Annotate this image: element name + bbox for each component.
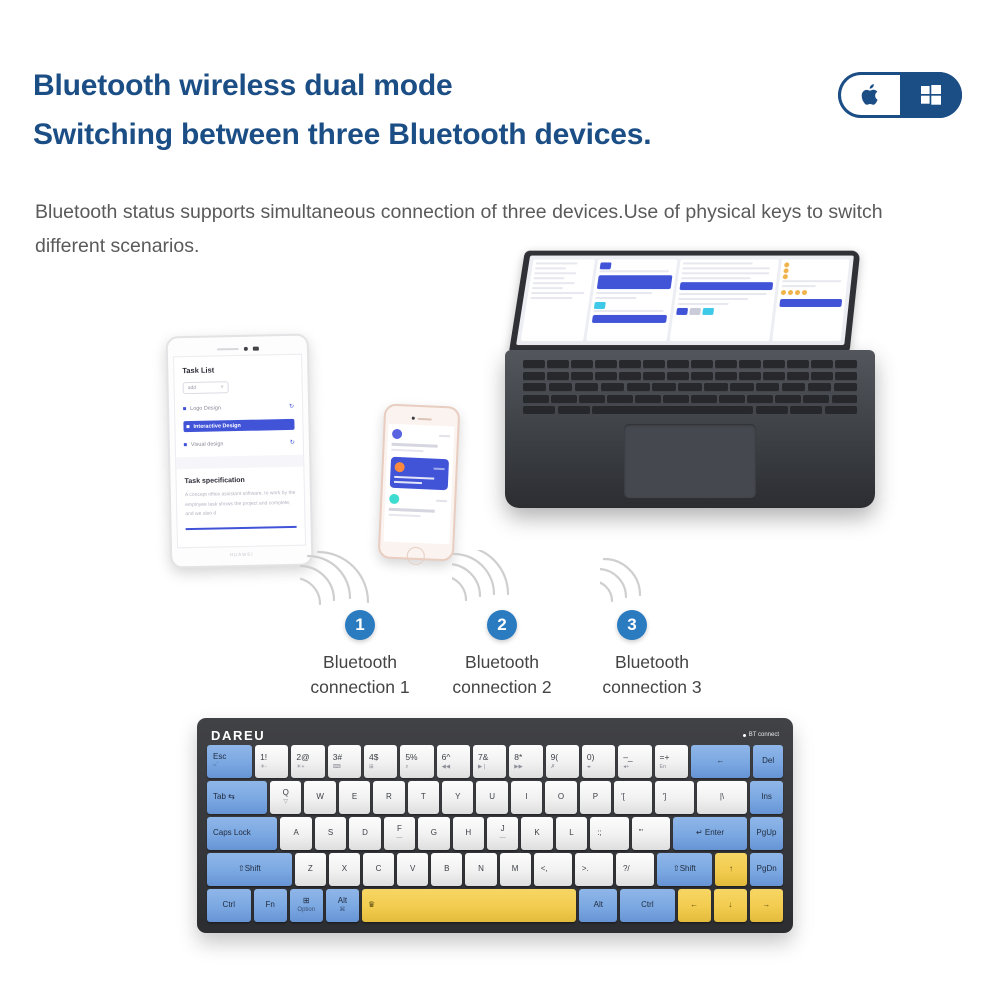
key-main-label: ?/: [623, 865, 630, 873]
key-sub-label: ✗: [551, 764, 556, 770]
bt-status-indicator: BT connect: [743, 732, 779, 738]
key-main-label: T: [421, 793, 426, 801]
key-v[interactable]: V: [397, 853, 428, 886]
chat-list-item-selected[interactable]: [390, 456, 449, 490]
key-n[interactable]: N: [465, 853, 496, 886]
key-alt[interactable]: Alt: [579, 889, 617, 922]
key-main-label: ←: [717, 757, 725, 765]
keyboard-row: Esc~`1!☀-2@☀+3#⌨4$⊞5%⌕6^◀◀7&▶❘8*▶▶9(✗0)◂…: [207, 745, 783, 778]
key-s[interactable]: S: [315, 817, 346, 850]
laptop-keyboard: [523, 360, 857, 415]
apple-badge-half: [838, 72, 900, 118]
dashboard-cards: [586, 259, 678, 341]
key-main-label: >.: [582, 865, 589, 873]
dashboard-ui: [521, 259, 850, 341]
apple-icon: [861, 83, 881, 107]
key-main-label: B: [444, 865, 449, 873]
key-main-label: Ctrl: [641, 901, 653, 909]
key-9[interactable]: 9(✗: [546, 745, 579, 778]
task-list-title: Task List: [182, 364, 293, 375]
key-[interactable]: →: [750, 889, 783, 922]
key-main-label: |\: [720, 793, 724, 801]
key-k[interactable]: K: [521, 817, 552, 850]
key-enter[interactable]: ↵ Enter: [673, 817, 747, 850]
chevron-down-icon: ˅: [221, 384, 224, 390]
key-shift[interactable]: ⇧Shift: [207, 853, 292, 886]
home-button[interactable]: [406, 547, 425, 566]
progress-bar: [186, 525, 297, 529]
key-[interactable]: ←: [691, 745, 750, 778]
key-main-label: ⊞: [303, 897, 310, 905]
bullet-icon: [183, 407, 186, 410]
connection-badge-2: 2: [487, 610, 517, 640]
key-[interactable]: :;: [590, 817, 628, 850]
chat-list-item[interactable]: [391, 429, 450, 453]
key-main-label: 1!: [260, 753, 267, 762]
windows-icon: [921, 85, 941, 105]
key-main-label: 7&: [478, 753, 488, 762]
phone-screen: [383, 424, 454, 545]
key-main-label: 3#: [333, 753, 342, 762]
product-feature-page: Bluetooth wireless dual mode Switching b…: [0, 0, 1000, 1000]
dashboard-sidebar: [521, 259, 595, 341]
key-shift[interactable]: ⇧Shift: [657, 853, 712, 886]
key-main-label: Fn: [265, 901, 274, 909]
task-label: Interactive Design: [193, 422, 283, 430]
key-y[interactable]: Y: [442, 781, 473, 814]
key-main-label: Caps Lock: [213, 829, 251, 837]
key-t[interactable]: T: [408, 781, 439, 814]
dareu-keyboard: DAREU BT connect Esc~`1!☀-2@☀+3#⌨4$⊞5%⌕6…: [197, 718, 793, 933]
section-divider: [176, 455, 303, 470]
key-main-label: Z: [308, 865, 313, 873]
phone-device: [378, 403, 461, 561]
key-[interactable]: ←: [678, 889, 711, 922]
task-item[interactable]: Visual design ↻: [184, 437, 295, 450]
add-task-dropdown[interactable]: add ˅: [183, 381, 229, 394]
keyboard-key-rows: Esc~`1!☀-2@☀+3#⌨4$⊞5%⌕6^◀◀7&▶❘8*▶▶9(✗0)◂…: [205, 745, 785, 922]
key-main-label: 2@: [296, 753, 309, 762]
keyboard-brand-logo: DAREU: [211, 728, 265, 743]
key-main-label: ⇧Shift: [238, 865, 261, 873]
page-title: Bluetooth wireless dual mode Switching b…: [33, 62, 651, 159]
dashboard-main: [670, 259, 779, 341]
keyboard-row: CtrlFn⊞OptionAlt⌘♛AltCtrl←↓→: [207, 889, 783, 922]
key-[interactable]: ↑: [715, 853, 748, 886]
key-main-label: R: [386, 793, 392, 801]
key-sub-label: ⌕: [405, 764, 408, 770]
key-main-label: –_: [623, 753, 632, 762]
task-label: Visual design: [191, 440, 286, 448]
key-sub-label: ▶▶: [514, 764, 522, 770]
connection-badge-1: 1: [345, 610, 375, 640]
key-main-label: U: [489, 793, 495, 801]
key-m[interactable]: M: [500, 853, 531, 886]
key-z[interactable]: Z: [295, 853, 326, 886]
key-main-label: Del: [762, 757, 774, 765]
key-fn[interactable]: Fn: [254, 889, 287, 922]
key-p[interactable]: P: [580, 781, 611, 814]
bullet-icon: [184, 443, 187, 446]
key-main-label: 6^: [442, 753, 451, 762]
tablet-device: Task List add ˅ Logo Design ↻ Interactiv…: [166, 334, 314, 569]
key-4[interactable]: 4$⊞: [364, 745, 397, 778]
key-main-label: V: [410, 865, 415, 873]
key-[interactable]: –_◂+: [618, 745, 651, 778]
keyboard-row: ⇧ShiftZXCVBNM<,>.?/⇧Shift↑PgDn: [207, 853, 783, 886]
key-main-label: L: [569, 829, 573, 837]
key-[interactable]: =+En: [655, 745, 688, 778]
key-sub-label: ⊞: [369, 764, 374, 770]
key-1[interactable]: 1!☀-: [255, 745, 288, 778]
key-main-label: H: [465, 829, 471, 837]
key-del[interactable]: Del: [753, 745, 783, 778]
key-w[interactable]: W: [304, 781, 335, 814]
key-g[interactable]: G: [418, 817, 449, 850]
key-esc[interactable]: Esc~`: [207, 745, 252, 778]
key-main-label: Ins: [761, 793, 772, 801]
key-[interactable]: >.: [575, 853, 613, 886]
task-spec-title: Task specification: [185, 476, 296, 485]
key-7[interactable]: 7&▶❘: [473, 745, 506, 778]
key-main-label: 0): [587, 753, 595, 762]
keyboard-row: Tab ⇆Q▽WERTYUIOP'[']|\Ins: [207, 781, 783, 814]
key-r[interactable]: R: [373, 781, 404, 814]
key-3[interactable]: 3#⌨: [328, 745, 361, 778]
key-h[interactable]: H: [453, 817, 484, 850]
key-main-label: PgDn: [757, 865, 777, 873]
key-main-label: A: [293, 829, 298, 837]
task-item[interactable]: Interactive Design ○: [183, 419, 294, 432]
key-l[interactable]: L: [556, 817, 587, 850]
key-main-label: Alt: [594, 901, 603, 909]
key-main-label: Y: [455, 793, 460, 801]
key-6[interactable]: 6^◀◀: [437, 745, 470, 778]
bullet-icon: [186, 425, 189, 428]
task-label: Logo Design: [190, 404, 285, 412]
keyboard-row: Caps LockASDF—GHJ—KL:;"'↵ EnterPgUp: [207, 817, 783, 850]
headline-line-2: Switching between three Bluetooth device…: [33, 111, 651, 160]
laptop-lid: [509, 251, 860, 352]
key-sub-label: ◂+: [623, 764, 629, 770]
laptop-trackpad[interactable]: [624, 424, 756, 498]
key-main-label: ↓: [728, 901, 732, 909]
key-main-label: ↵ Enter: [696, 829, 724, 837]
key-main-label: S: [328, 829, 333, 837]
key-[interactable]: '[: [614, 781, 652, 814]
key-sub-label: —: [500, 835, 506, 842]
key-ctrl[interactable]: Ctrl: [620, 889, 674, 922]
key-f[interactable]: F—: [384, 817, 415, 850]
key-0[interactable]: 0)◂-: [582, 745, 615, 778]
key-pgdn[interactable]: PgDn: [750, 853, 783, 886]
key-main-label: ']: [662, 793, 666, 801]
windows-badge-half: [900, 72, 962, 118]
key-main-label: 8*: [514, 753, 522, 762]
connection-badge-3: 3: [617, 610, 647, 640]
refresh-icon: ↻: [289, 403, 294, 410]
key-sub-label: Option: [297, 907, 315, 914]
key-main-label: ↑: [729, 865, 733, 873]
key-main-label: PgUp: [756, 829, 776, 837]
phone-speaker-bar: [389, 415, 455, 423]
key-[interactable]: ⊞Option: [290, 889, 323, 922]
key-x[interactable]: X: [329, 853, 360, 886]
key-main-label: G: [431, 829, 437, 837]
laptop-base: [505, 350, 875, 508]
key-main-label: =+: [660, 753, 670, 762]
key-main-label: J: [501, 825, 505, 833]
key-e[interactable]: E: [339, 781, 370, 814]
key-sub-label: ⌨: [333, 764, 341, 770]
key-[interactable]: ']: [655, 781, 693, 814]
task-item[interactable]: Logo Design ↻: [183, 401, 294, 414]
key-main-label: Esc: [213, 753, 226, 761]
task-spec-body: A concept office assistant software, to …: [185, 489, 297, 520]
key-main-label: E: [352, 793, 357, 801]
key-main-label: M: [512, 865, 519, 873]
key-main-label: 5%: [405, 753, 417, 762]
key-ctrl[interactable]: Ctrl: [207, 889, 251, 922]
key-main-label: →: [762, 901, 770, 909]
avatar: [389, 494, 399, 504]
refresh-icon: ↻: [290, 439, 295, 446]
add-task-label: add: [188, 385, 196, 391]
key-main-label: D: [362, 829, 368, 837]
key-5[interactable]: 5%⌕: [400, 745, 433, 778]
key-2[interactable]: 2@☀+: [291, 745, 324, 778]
key-main-label: "': [639, 829, 643, 837]
chat-list-item[interactable]: [389, 494, 448, 518]
key-main-label: :;: [597, 829, 601, 837]
key-sub-label: ▶❘: [478, 764, 487, 770]
key-u[interactable]: U: [476, 781, 507, 814]
dashboard-activity: [772, 259, 849, 341]
key-c[interactable]: C: [363, 853, 394, 886]
key-main-label: Q: [283, 789, 289, 797]
key-main-label: X: [342, 865, 347, 873]
key-main-label: W: [316, 793, 324, 801]
keyboard-top-bezel: DAREU BT connect: [205, 725, 785, 745]
key-main-label: Ctrl: [223, 901, 235, 909]
key-main-label: O: [558, 793, 564, 801]
key-capslock[interactable]: Caps Lock: [207, 817, 277, 850]
tablet-brand: HUAWEI: [177, 546, 306, 559]
bt-status-label: BT connect: [749, 732, 779, 738]
led-icon: [743, 734, 746, 737]
key-main-label: 9(: [551, 753, 559, 762]
key-main-label: ←: [690, 901, 698, 909]
key-sub-label: En: [660, 764, 667, 770]
key-b[interactable]: B: [431, 853, 462, 886]
key-[interactable]: |\: [697, 781, 747, 814]
connection-caption-3: Bluetooth connection 3: [562, 650, 742, 700]
key-a[interactable]: A: [280, 817, 311, 850]
key-main-label: ♛: [368, 901, 375, 909]
key-main-label: Alt: [338, 897, 347, 905]
key-sub-label: ◂-: [587, 764, 592, 770]
avatar: [392, 429, 402, 439]
key-[interactable]: <,: [534, 853, 572, 886]
key-i[interactable]: I: [511, 781, 542, 814]
key-j[interactable]: J—: [487, 817, 518, 850]
key-main-label: ⇧Shift: [673, 865, 696, 873]
laptop-device: [505, 250, 875, 520]
key-8[interactable]: 8*▶▶: [509, 745, 542, 778]
key-sub-label: ~`: [213, 763, 219, 770]
key-ins[interactable]: Ins: [750, 781, 783, 814]
key-main-label: P: [593, 793, 598, 801]
key-main-label: Tab ⇆: [213, 793, 235, 801]
key-sub-label: ⌘: [339, 907, 345, 914]
key-main-label: I: [525, 793, 527, 801]
key-tab[interactable]: Tab ⇆: [207, 781, 267, 814]
key-sub-label: —: [396, 835, 402, 842]
laptop-screen: [516, 256, 854, 345]
key-main-label: 4$: [369, 753, 378, 762]
key-[interactable]: ♛: [362, 889, 576, 922]
avatar: [394, 461, 404, 471]
key-[interactable]: ↓: [714, 889, 747, 922]
key-main-label: C: [376, 865, 382, 873]
key-main-label: K: [534, 829, 539, 837]
tablet-screen: Task List add ˅ Logo Design ↻ Interactiv…: [173, 354, 306, 549]
key-sub-label: ◀◀: [442, 764, 450, 770]
circle-icon: ○: [288, 421, 292, 427]
key-sub-label: ▽: [283, 799, 288, 806]
key-alt[interactable]: Alt⌘: [326, 889, 359, 922]
headline-line-1: Bluetooth wireless dual mode: [33, 62, 651, 111]
key-main-label: '[: [621, 793, 625, 801]
key-main-label: N: [478, 865, 484, 873]
os-compatibility-badge: [838, 72, 962, 118]
key-[interactable]: ?/: [616, 853, 654, 886]
key-sub-label: ☀+: [296, 764, 304, 770]
key-o[interactable]: O: [545, 781, 576, 814]
key-d[interactable]: D: [349, 817, 380, 850]
device-scene: Task List add ˅ Logo Design ↻ Interactiv…: [0, 250, 1000, 710]
key-q[interactable]: Q▽: [270, 781, 301, 814]
key-main-label: <,: [541, 865, 548, 873]
key-pgup[interactable]: PgUp: [750, 817, 783, 850]
key-main-label: F: [397, 825, 402, 833]
key-[interactable]: "': [632, 817, 670, 850]
key-sub-label: ☀-: [260, 764, 267, 770]
